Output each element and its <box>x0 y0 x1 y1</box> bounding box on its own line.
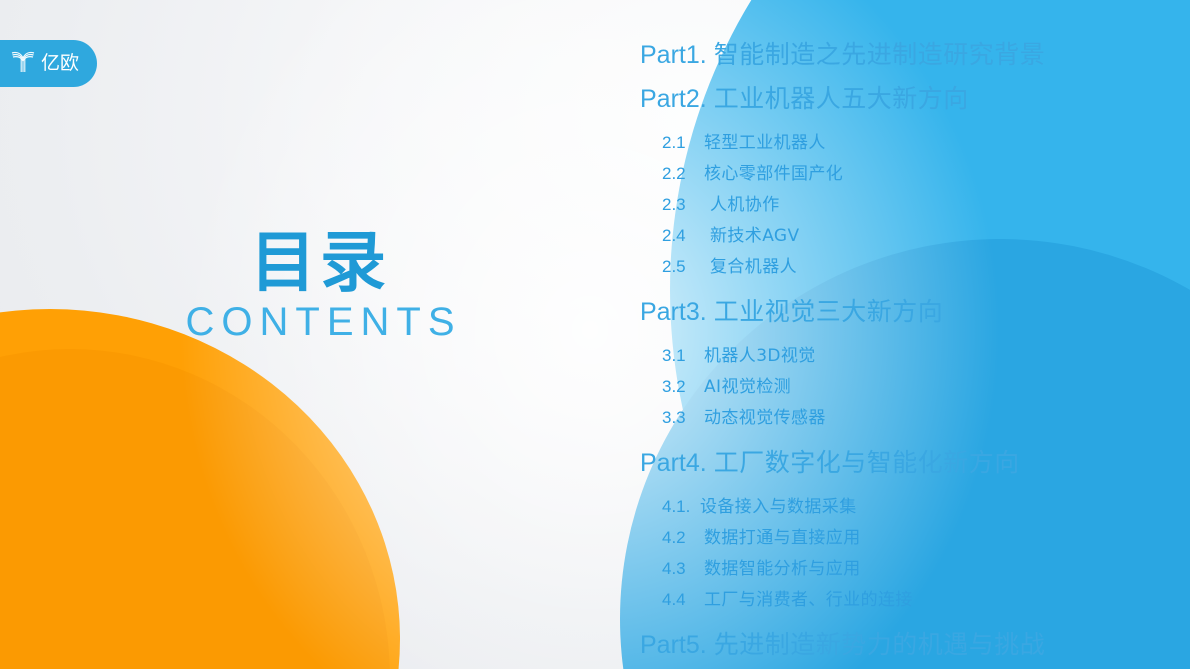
toc-sub-number: 4.2 <box>662 529 704 546</box>
decorative-orange-wedge-accent <box>0 349 390 669</box>
toc-sub-item[interactable]: 2.2核心零部件国产化 <box>662 165 1110 196</box>
table-of-contents: Part1.智能制造之先进制造研究背景Part2.工业机器人五大新方向2.1轻型… <box>640 42 1110 669</box>
toc-part-title: 工业视觉三大新方向 <box>714 299 944 324</box>
toc-sub-title: 工厂与消费者、行业的连接 <box>704 592 913 609</box>
toc-sub-item[interactable]: 4.1.设备接入与数据采集 <box>662 498 1110 529</box>
toc-part-number: Part4. <box>640 451 707 476</box>
toc-sub-item[interactable]: 3.3动态视觉传感器 <box>662 409 1110 440</box>
toc-sub-number: 2.3 <box>662 196 710 213</box>
toc-part-item[interactable]: Part2.工业机器人五大新方向 <box>640 86 1110 124</box>
toc-sub-number: 3.1 <box>662 347 704 364</box>
page-title-cn: 目录 <box>160 228 480 297</box>
brand-logo[interactable]: 亿欧 <box>0 40 97 87</box>
toc-part-number: Part3. <box>640 300 707 325</box>
toc-sub-number: 2.5 <box>662 258 710 275</box>
yiou-tree-icon <box>8 46 38 81</box>
toc-sub-number: 2.2 <box>662 165 704 182</box>
toc-part-number: Part2. <box>640 87 707 112</box>
page-title-en: CONTENTS <box>160 299 480 345</box>
toc-sub-item[interactable]: 3.1机器人3D视觉 <box>662 347 1110 378</box>
toc-part-title: 工厂数字化与智能化新方向 <box>714 450 1020 475</box>
toc-part-title: 先进制造新势力的机遇与挑战 <box>714 632 1046 657</box>
toc-sub-number: 4.1. <box>662 498 700 515</box>
toc-sub-title: 轻型工业机器人 <box>704 135 826 152</box>
toc-sub-item[interactable]: 4.2数据打通与直接应用 <box>662 529 1110 560</box>
toc-part-item[interactable]: Part3.工业视觉三大新方向 <box>640 299 1110 337</box>
toc-sub-item[interactable]: 3.2AI视觉检测 <box>662 378 1110 409</box>
toc-sub-item[interactable]: 2.3人机协作 <box>662 196 1110 227</box>
toc-sub-item[interactable]: 4.3数据智能分析与应用 <box>662 560 1110 591</box>
toc-sub-title: 核心零部件国产化 <box>704 166 843 183</box>
toc-part-title: 智能制造之先进制造研究背景 <box>714 42 1046 67</box>
toc-sub-title: 机器人3D视觉 <box>704 348 816 365</box>
toc-sub-title: 复合机器人 <box>710 259 797 276</box>
decorative-orange-wedge-bottom-left <box>0 309 400 669</box>
toc-sub-number: 2.1 <box>662 134 704 151</box>
toc-sub-item[interactable]: 2.1轻型工业机器人 <box>662 134 1110 165</box>
toc-sub-number: 3.2 <box>662 378 704 395</box>
toc-sub-title: 数据打通与直接应用 <box>704 530 861 547</box>
toc-sub-item[interactable]: 2.4新技术AGV <box>662 227 1110 258</box>
title-block: 目录 CONTENTS <box>160 228 480 345</box>
toc-sub-title: 新技术AGV <box>710 228 800 245</box>
toc-part-number: Part1. <box>640 43 707 68</box>
toc-sub-title: 数据智能分析与应用 <box>704 561 861 578</box>
toc-part-item[interactable]: Part4.工厂数字化与智能化新方向 <box>640 450 1110 488</box>
toc-sub-title: 人机协作 <box>710 197 780 214</box>
toc-sub-item[interactable]: 2.5复合机器人 <box>662 258 1110 289</box>
toc-sub-number: 4.3 <box>662 560 704 577</box>
toc-part-title: 工业机器人五大新方向 <box>714 86 969 111</box>
toc-sub-title: 动态视觉传感器 <box>704 410 826 427</box>
toc-sub-item[interactable]: 4.4工厂与消费者、行业的连接 <box>662 591 1110 622</box>
toc-sub-title: AI视觉检测 <box>704 379 791 396</box>
toc-part-number: Part5. <box>640 633 707 658</box>
slide-canvas: 亿欧 目录 CONTENTS Part1.智能制造之先进制造研究背景Part2.… <box>0 0 1190 669</box>
toc-sub-number: 3.3 <box>662 409 704 426</box>
toc-sub-number: 2.4 <box>662 227 710 244</box>
toc-sub-title: 设备接入与数据采集 <box>700 499 857 516</box>
brand-logo-text: 亿欧 <box>41 54 79 73</box>
toc-part-item[interactable]: Part1.智能制造之先进制造研究背景 <box>640 42 1110 80</box>
toc-part-item[interactable]: Part5.先进制造新势力的机遇与挑战 <box>640 632 1110 669</box>
toc-sub-number: 4.4 <box>662 591 704 608</box>
